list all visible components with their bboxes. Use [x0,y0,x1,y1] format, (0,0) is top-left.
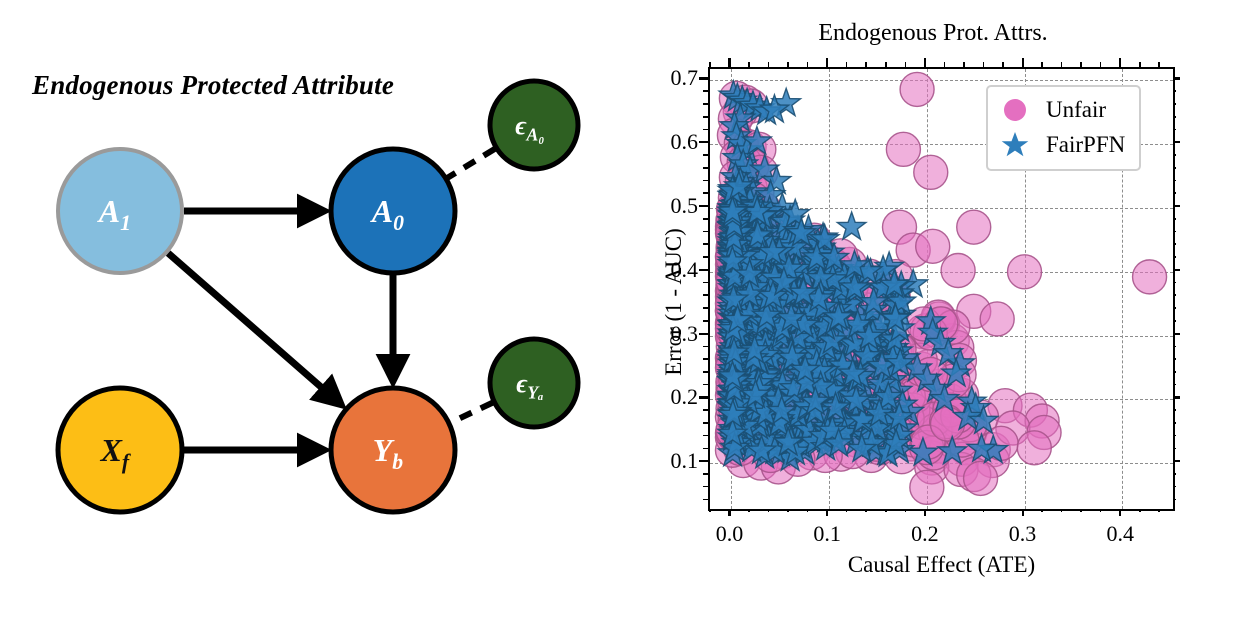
point-unfair-126 [886,132,920,166]
diagram-node-A1[interactable]: A1 [58,149,182,273]
x-tick-label-0: 0.0 [716,521,744,547]
y-tick-major-0 [699,460,708,462]
x-tick-label-3: 0.3 [1009,521,1037,547]
point-unfair-125 [900,72,934,106]
point-fairpfn-122 [837,212,866,239]
node-circle-A0 [331,149,455,273]
x-tick-major-top-2 [924,58,926,67]
diagram-node-Xf[interactable]: Xf [58,388,182,512]
point-unfair-134 [1133,260,1167,294]
point-unfair-149 [1017,431,1051,465]
legend-star-marker-icon [1000,131,1030,159]
legend-circle-marker-icon [1000,97,1030,123]
chart-legend[interactable]: Unfair FairPFN [986,85,1141,171]
diagram-node-Yb[interactable]: Yb [331,388,455,512]
x-tick-major-top-1 [826,58,828,67]
node-circle-epsYb [490,339,578,427]
diagram-node-A0[interactable]: A0 [331,149,455,273]
x-tick-label-2: 0.2 [911,521,939,547]
node-circle-Yb [331,388,455,512]
y-tick-label-4: 0.5 [642,193,698,219]
y-tick-major-1 [699,396,708,398]
point-unfair-123 [964,461,998,495]
y-tick-label-2: 0.3 [642,321,698,347]
y-tick-major-4 [699,205,708,207]
y-tick-label-3: 0.4 [642,257,698,283]
node-circle-Xf [58,388,182,512]
y-tick-major-3 [699,269,708,271]
x-tick-major-top-4 [1119,58,1121,67]
causal-diagram-svg: A1A0XfYbϵA₀ϵYₐ [0,0,620,625]
point-unfair-132 [941,254,975,288]
point-unfair-127 [914,155,948,189]
legend-label-fairpfn: FairPFN [1046,132,1125,158]
y-tick-label-6: 0.7 [642,65,698,91]
y-tick-label-5: 0.6 [642,129,698,155]
point-unfair-136 [980,302,1014,336]
node-circle-A1 [58,149,182,273]
diagram-edge-epsYb-to-Yb [451,403,493,423]
x-axis-label: Causal Effect (ATE) [708,552,1175,578]
legend-label-unfair: Unfair [1046,97,1106,123]
x-tick-label-1: 0.1 [813,521,841,547]
chart-title: Endogenous Prot. Attrs. [620,20,1246,47]
x-tick-major-top-3 [1022,58,1024,67]
scatter-chart-panel: Endogenous Prot. Attrs. Error (1 - AUC) … [620,0,1246,625]
causal-diagram-panel: Endogenous Protected Attribute A1A0XfYbϵ… [0,0,620,625]
y-tick-label-0: 0.1 [642,448,698,474]
point-unfair-133 [1008,255,1042,289]
x-tick-label-4: 0.4 [1106,521,1134,547]
y-tick-major-2 [699,333,708,335]
diagram-node-epsA0[interactable]: ϵA₀ [490,81,578,169]
point-unfair-124 [910,470,944,504]
legend-item-unfair[interactable]: Unfair [1000,94,1125,126]
point-unfair-131 [916,229,950,263]
figure-root: Endogenous Protected Attribute A1A0XfYbϵ… [0,0,1246,625]
legend-item-fairpfn[interactable]: FairPFN [1000,129,1125,161]
diagram-node-epsYb[interactable]: ϵYₐ [490,339,578,427]
diagram-edge-epsA0-to-A0 [448,149,495,178]
y-tick-label-1: 0.2 [642,384,698,410]
y-tick-major-5 [699,141,708,143]
node-circle-epsA0 [490,81,578,169]
plot-area: Unfair FairPFN [708,67,1175,511]
y-tick-major-6 [699,77,708,79]
point-unfair-129 [957,210,991,244]
diagram-edge-A1-to-Yb [168,253,339,403]
x-tick-major-top-0 [728,58,730,67]
